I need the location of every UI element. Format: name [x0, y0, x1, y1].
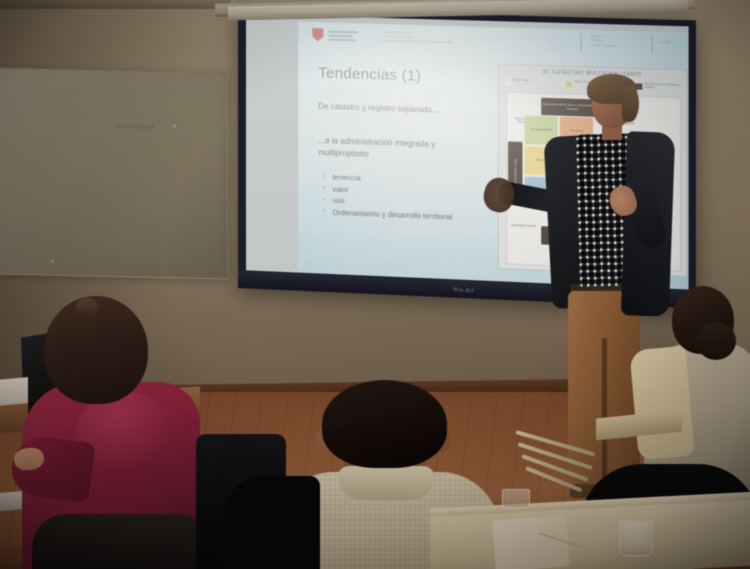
university-crest-icon	[312, 28, 323, 41]
slide-header-right-2: Colombia	[591, 39, 643, 44]
drinking-glass[interactable]	[620, 521, 652, 556]
slide-paragraph-2: ...a la administración integrada y multi…	[318, 135, 481, 164]
slide-header-right-4: de 2016	[660, 41, 688, 46]
attendee-center-collar	[338, 466, 434, 500]
chair-left-attendee[interactable]	[32, 514, 212, 569]
attendee-left-hair-part	[76, 298, 98, 318]
drinking-glass[interactable]	[502, 489, 530, 508]
whiteboard: whiteboard	[0, 68, 228, 280]
paper-napkin	[492, 515, 569, 569]
legend-swatch-icon	[505, 79, 511, 85]
screen-brand-label: Pro-Art	[453, 287, 474, 294]
slide-title: Tendencias (1)	[318, 64, 421, 84]
attendee-woman-bun	[636, 286, 750, 526]
slide-paragraph-1: De catastro y registro separado....	[318, 101, 481, 118]
chair-center-dark[interactable]	[224, 476, 320, 569]
presentation-photo: whiteboard Universidad Distrital Faculta…	[0, 0, 750, 569]
presenter-hair-back	[622, 86, 639, 122]
whiteboard-screw	[173, 124, 176, 127]
attendee-right-bun	[696, 322, 736, 360]
diagram-legend-label: Marco Legal	[513, 79, 528, 83]
whiteboard-screw	[51, 260, 54, 263]
whiteboard-marking: whiteboard	[117, 123, 169, 137]
puzzle-piece: Seguridad Jurídica	[508, 206, 539, 246]
whiteboard-gloss	[0, 69, 227, 279]
slide-bullet-list: tenenciavalorusoOrdenamiento y desarroll…	[320, 171, 493, 225]
attendee-woman-red-sweater	[18, 296, 208, 569]
slide-header-right-3: 4 - 6 de Septiembre	[591, 44, 648, 49]
attendee-right-scarf	[629, 346, 694, 460]
diagram-legend-item: Marco Legal	[505, 78, 529, 85]
attendee-center-hair	[322, 380, 447, 468]
slide-header: Universidad Distrital Facultad de Ingeni…	[298, 22, 688, 62]
